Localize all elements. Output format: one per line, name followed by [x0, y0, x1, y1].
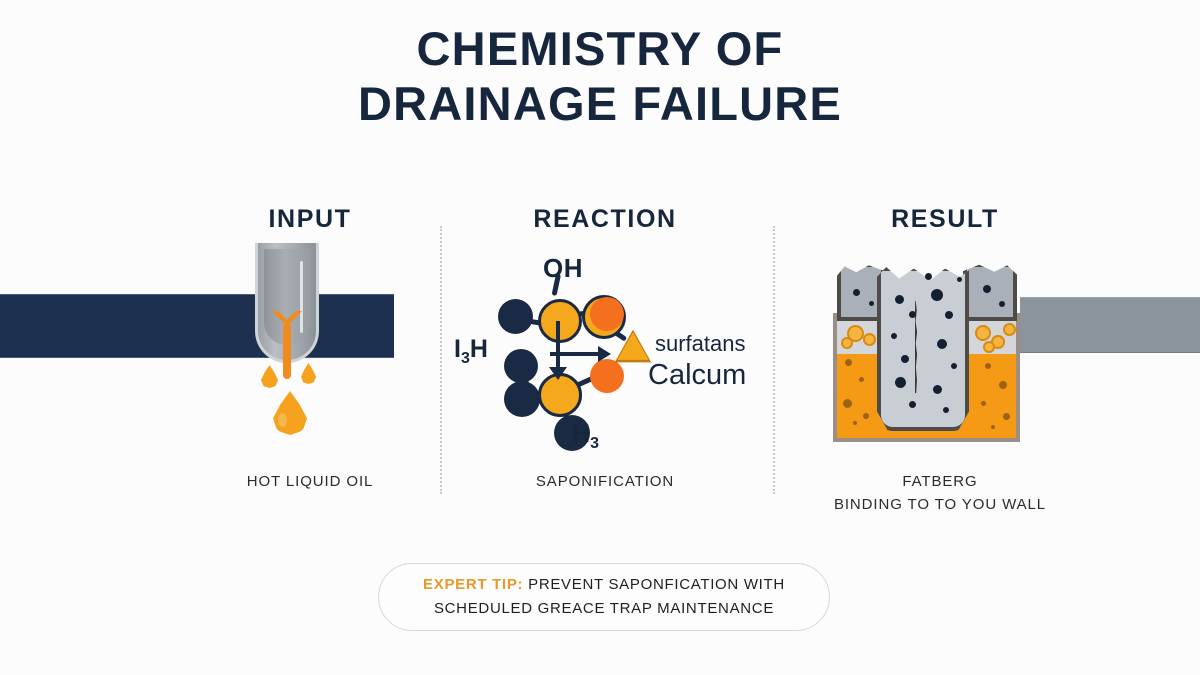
grease-bubble — [863, 333, 876, 346]
fatberg-speckle — [895, 295, 904, 304]
atom-node-orange-bottom — [590, 359, 624, 393]
fatberg-mass — [877, 267, 969, 431]
atom-node-navy-chain-lower — [504, 381, 540, 417]
column-heading-reaction: REACTION — [455, 205, 755, 234]
fatberg-cross-section-icon — [833, 255, 1020, 442]
atom-node-navy-top-left — [498, 299, 533, 334]
grease-speck — [859, 377, 864, 382]
caption-result: FATBERG BINDING TO TO YOU WALL — [790, 470, 1090, 517]
expert-tip-line-2: SCHEDULED GREACE TRAP MAINTENANCE — [434, 600, 774, 617]
atom-node-orange-top — [590, 297, 624, 331]
fatberg-speckle — [999, 301, 1005, 307]
grease-speck — [853, 421, 857, 425]
down-arrow-icon — [556, 321, 560, 369]
fatberg-speckle — [869, 301, 874, 306]
column-heading-input: INPUT — [160, 205, 460, 234]
molecule-diagram-icon: OH I3H H3 surfatans Calcum — [450, 255, 750, 455]
grease-bubble — [1003, 323, 1016, 336]
product-label-calcium: Calcum — [648, 359, 746, 392]
atom-node-navy-chain-upper — [504, 349, 538, 383]
caption-result-line-2: BINDING TO TO YOU WALL — [790, 493, 1090, 516]
expert-tip-banner: EXPERT TIP: PREVENT SAPONFICATION WITH S… — [378, 563, 830, 631]
grease-bubble — [841, 337, 853, 349]
fatberg-speckle — [943, 407, 949, 413]
fatberg-speckle — [933, 385, 942, 394]
expert-tip-label: EXPERT TIP: — [423, 576, 523, 593]
methyl-left-prefix: I — [454, 335, 461, 363]
fatberg-speckle — [925, 273, 932, 280]
grease-speck — [981, 401, 986, 406]
fatberg-crust-right — [963, 263, 1017, 321]
molecule-label-hydroxyl: OH — [543, 253, 583, 284]
methyl-left-subscript: 3 — [461, 350, 470, 367]
page-title-line-1: CHEMISTRY OF — [0, 22, 1200, 77]
grease-speck — [845, 359, 852, 366]
fatberg-speckle — [957, 277, 962, 282]
pipe-dripping-oil-icon — [232, 243, 392, 443]
methyl-bottom-subscript: 3 — [590, 435, 599, 452]
fatberg-speckle — [945, 311, 953, 319]
fatberg-speckle — [909, 401, 916, 408]
grease-bubble — [975, 325, 991, 341]
product-label-surfactants: surfatans — [655, 331, 746, 357]
grease-speck — [985, 363, 991, 369]
pipe-highlight — [300, 261, 303, 333]
column-divider-1 — [440, 226, 442, 494]
atom-node-amber-top-center — [538, 299, 582, 343]
fatberg-speckle — [937, 339, 947, 349]
infographic-canvas: CHEMISTRY OF DRAINAGE FAILURE INPUT REAC… — [0, 0, 1200, 675]
fatberg-speckle — [901, 355, 909, 363]
fatberg-speckle — [891, 333, 897, 339]
page-title: CHEMISTRY OF DRAINAGE FAILURE — [0, 22, 1200, 132]
grease-bubble — [983, 341, 995, 353]
fatberg-speckle — [853, 289, 860, 296]
molecule-label-methyl-bottom: H3 — [572, 420, 599, 453]
oil-droplet-large — [273, 391, 307, 435]
grease-speck — [991, 425, 995, 429]
molecule-label-methyl-left: I3H — [454, 335, 488, 368]
methyl-left-suffix: H — [470, 335, 488, 363]
column-divider-2 — [773, 226, 775, 494]
expert-tip-text: EXPERT TIP: PREVENT SAPONFICATION WITH S… — [401, 573, 807, 622]
grease-speck — [999, 381, 1007, 389]
expert-tip-line-1: PREVENT SAPONFICATION WITH — [523, 576, 785, 593]
grease-speck — [1003, 413, 1010, 420]
fatberg-speckle — [909, 311, 916, 318]
caption-input: HOT LIQUID OIL — [160, 470, 460, 493]
methyl-bottom-prefix: H — [572, 420, 590, 448]
column-heading-result: RESULT — [795, 205, 1095, 234]
caption-reaction: SAPONIFICATION — [455, 470, 755, 493]
grease-speck — [863, 413, 869, 419]
right-arrow-icon — [550, 352, 608, 356]
fatberg-speckle — [895, 377, 906, 388]
fatberg-speckle — [931, 289, 943, 301]
caption-result-line-1: FATBERG — [790, 470, 1090, 493]
page-title-line-2: DRAINAGE FAILURE — [0, 77, 1200, 132]
fatberg-speckle — [983, 285, 991, 293]
oil-droplet-small-left — [261, 365, 278, 388]
fatberg-speckle — [951, 363, 957, 369]
oil-stream — [283, 323, 291, 379]
grease-speck — [843, 399, 852, 408]
oil-droplet-small-right — [301, 363, 316, 384]
